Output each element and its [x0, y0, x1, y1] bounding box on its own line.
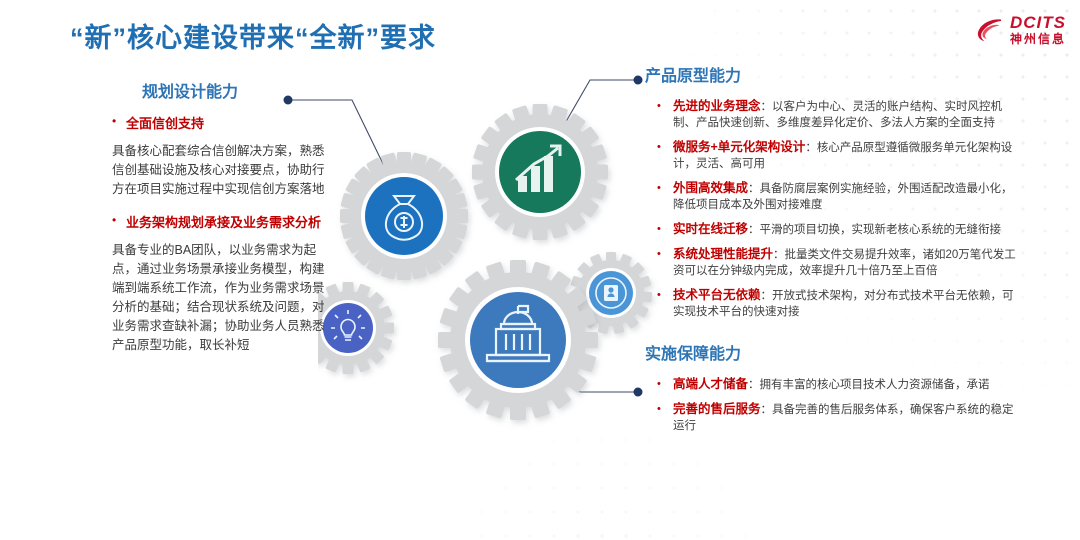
right-section-one-list: • 先进的业务理念：以客户为中心、灵活的账户结构、实时风控机制、产品快速创新、多… — [657, 98, 1017, 320]
left-item-body: 具备核心配套综合信创解决方案，熟悉信创基础设施及核心对接要点，协助行方在项目实施… — [112, 142, 334, 199]
left-section-heading: 规划设计能力 — [142, 78, 334, 102]
bullet-dot-icon: • — [657, 401, 673, 434]
list-item-body: 拥有丰富的核心项目技术人力资源储备，承诺 — [760, 379, 990, 391]
logo-cn-text: 神州信息 — [1010, 33, 1066, 45]
list-item: • 技术平台无依赖：开放式技术架构，对分布式技术平台无依赖，可实现技术平台的快速… — [657, 287, 1017, 320]
list-item-text: 完善的售后服务：具备完善的售后服务体系，确保客户系统的稳定运行 — [673, 401, 1017, 434]
left-bullet-item: • 业务架构规划承接及业务需求分析 — [112, 213, 334, 232]
list-item-keyword: 系统处理性能提升 — [673, 247, 773, 261]
right-section-one-heading: 产品原型能力 — [645, 62, 1017, 86]
list-item-text: 实时在线迁移：平滑的项目切换，实现新老核心系统的无缝衔接 — [673, 221, 1017, 238]
bullet-dot-icon: • — [657, 287, 673, 320]
slide-canvas: “新”核心建设带来“全新”要求 DCITS 神州信息 — [0, 0, 1080, 540]
list-item-sep: ： — [773, 249, 785, 261]
right-section-two-list: • 高端人才储备：拥有丰富的核心项目技术人力资源储备，承诺 • 完善的售后服务：… — [657, 376, 1017, 434]
logo-en-text: DCITS — [1010, 14, 1066, 31]
list-item-keyword: 实时在线迁移 — [673, 222, 748, 236]
bullet-dot-icon: • — [112, 114, 126, 133]
bullet-dot-icon: • — [657, 246, 673, 279]
list-item-keyword: 高端人才储备 — [673, 377, 748, 391]
list-item-text: 系统处理性能提升：批量类文件交易提升效率，诸如20万笔代发工资可以在分钟级内完成… — [673, 246, 1017, 279]
left-bullet-item: • 全面信创支持 — [112, 114, 334, 133]
list-item: • 微服务+单元化架构设计：核心产品原型遵循微服务单元化架构设计，灵活、高可用 — [657, 139, 1017, 172]
list-item-text: 高端人才储备：拥有丰富的核心项目技术人力资源储备，承诺 — [673, 376, 1017, 393]
list-item: • 高端人才储备：拥有丰富的核心项目技术人力资源储备，承诺 — [657, 376, 1017, 393]
bullet-dot-icon: • — [657, 221, 673, 238]
list-item-keyword: 技术平台无依赖 — [673, 288, 761, 302]
list-item-body: 平滑的项目切换，实现新老核心系统的无缝衔接 — [760, 224, 1002, 236]
list-item-text: 技术平台无依赖：开放式技术架构，对分布式技术平台无依赖，可实现技术平台的快速对接 — [673, 287, 1017, 320]
right-section-two-heading: 实施保障能力 — [645, 340, 1017, 364]
list-item-sep: ： — [805, 142, 817, 154]
bullet-dot-icon: • — [657, 180, 673, 213]
list-item-sep: ： — [761, 101, 773, 113]
list-item: • 先进的业务理念：以客户为中心、灵活的账户结构、实时风控机制、产品快速创新、多… — [657, 98, 1017, 131]
list-item-sep: ： — [761, 404, 773, 416]
left-item-body: 具备专业的BA团队，以业务需求为起点，通过业务场景承接业务模型，构建端到端系统工… — [112, 241, 334, 355]
bullet-dot-icon: • — [657, 98, 673, 131]
list-item-sep: ： — [761, 290, 773, 302]
gears-illustration — [318, 88, 678, 448]
list-item-keyword: 外围高效集成 — [673, 181, 748, 195]
bullet-dot-icon: • — [657, 376, 673, 393]
list-item-keyword: 微服务+单元化架构设计 — [673, 140, 805, 154]
list-item-sep: ： — [748, 183, 760, 195]
page-title: “新”核心建设带来“全新”要求 — [70, 16, 436, 55]
list-item: • 完善的售后服务：具备完善的售后服务体系，确保客户系统的稳定运行 — [657, 401, 1017, 434]
right-column: 产品原型能力 • 先进的业务理念：以客户为中心、灵活的账户结构、实时风控机制、产… — [645, 62, 1017, 442]
left-item-lead: 全面信创支持 — [126, 114, 334, 133]
list-item-sep: ： — [748, 224, 760, 236]
list-item-text: 先进的业务理念：以客户为中心、灵活的账户结构、实时风控机制、产品快速创新、多维度… — [673, 98, 1017, 131]
dcits-swoosh-icon — [974, 15, 1004, 45]
connector-dot-right-top — [634, 76, 643, 85]
list-item-keyword: 完善的售后服务 — [673, 402, 761, 416]
bullet-dot-icon: • — [112, 213, 126, 232]
left-column: 规划设计能力 • 全面信创支持 具备核心配套综合信创解决方案，熟悉信创基础设施及… — [112, 78, 334, 369]
list-item: • 系统处理性能提升：批量类文件交易提升效率，诸如20万笔代发工资可以在分钟级内… — [657, 246, 1017, 279]
money-bag-gear — [340, 152, 468, 280]
list-item-text: 微服务+单元化架构设计：核心产品原型遵循微服务单元化架构设计，灵活、高可用 — [673, 139, 1017, 172]
list-item: • 实时在线迁移：平滑的项目切换，实现新老核心系统的无缝衔接 — [657, 221, 1017, 238]
list-item-text: 外围高效集成：具备防腐层案例实施经验，外围适配改造最小化，降低项目成本及外围对接… — [673, 180, 1017, 213]
list-item: • 外围高效集成：具备防腐层案例实施经验，外围适配改造最小化，降低项目成本及外围… — [657, 180, 1017, 213]
list-item-sep: ： — [748, 379, 760, 391]
brand-logo: DCITS 神州信息 — [974, 14, 1066, 45]
growth-chart-gear — [472, 104, 608, 240]
left-item-lead: 业务架构规划承接及业务需求分析 — [126, 213, 334, 232]
logo-wordmark: DCITS 神州信息 — [1010, 14, 1066, 45]
bullet-dot-icon: • — [657, 139, 673, 172]
list-item-keyword: 先进的业务理念 — [673, 99, 761, 113]
